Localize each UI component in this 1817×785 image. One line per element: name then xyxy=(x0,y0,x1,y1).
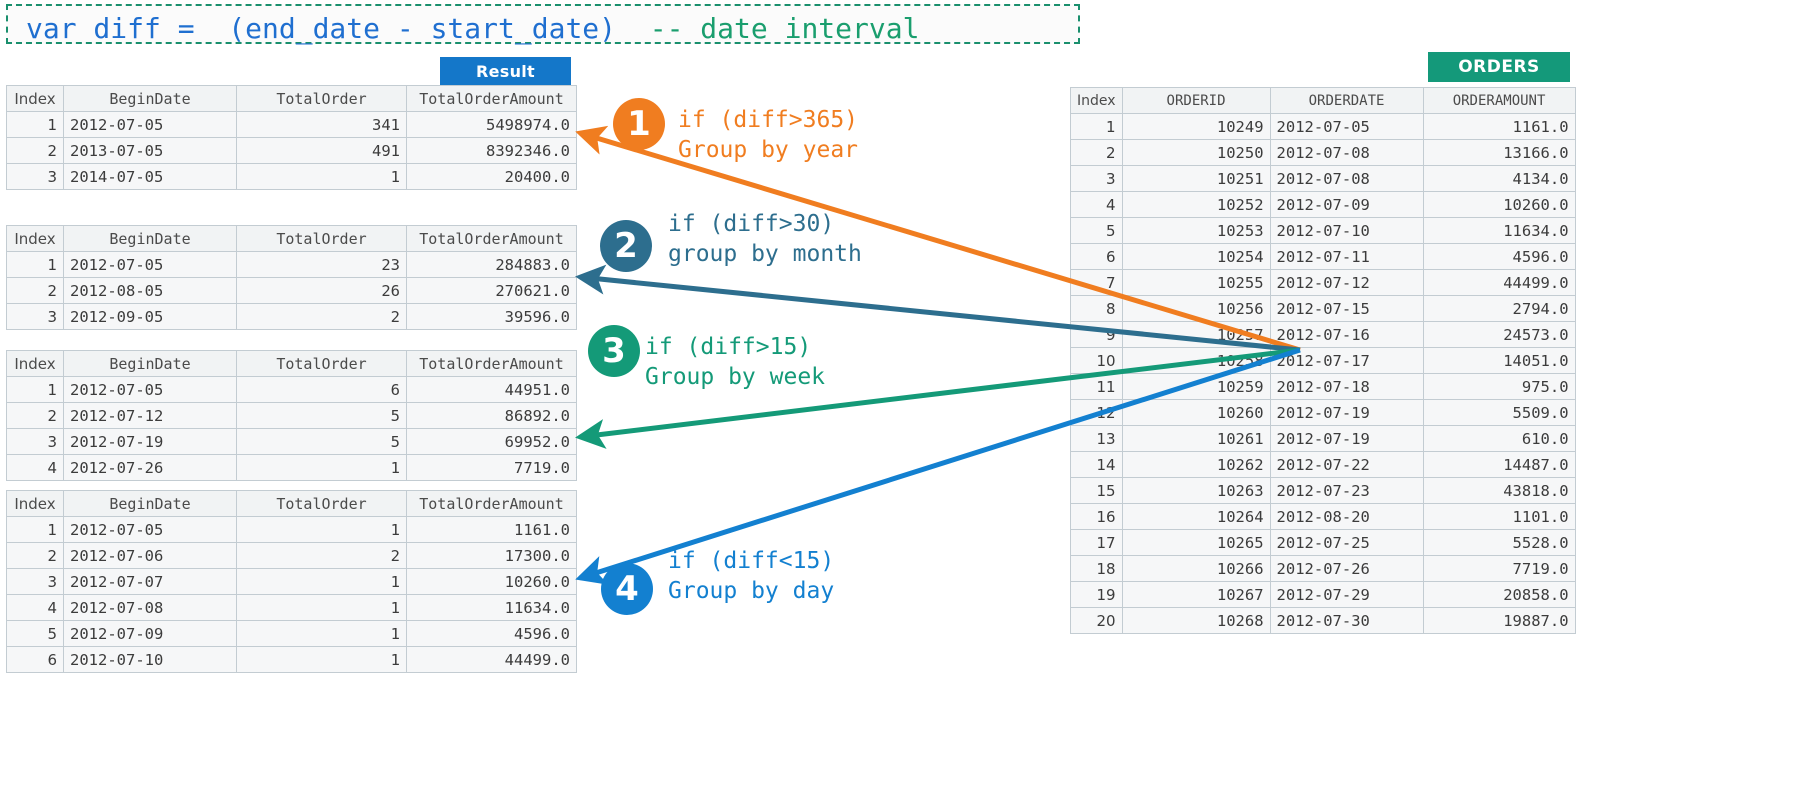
cell-totalorder: 491 xyxy=(237,138,407,164)
orders-table: IndexORDERIDORDERDATEORDERAMOUNT11024920… xyxy=(1070,87,1576,634)
cell-orderid: 10250 xyxy=(1122,140,1270,166)
table-row[interactable]: 3102512012-07-084134.0 xyxy=(1071,166,1576,192)
orders-tab[interactable]: ORDERS xyxy=(1428,52,1570,82)
cell-index: 16 xyxy=(1071,504,1123,530)
diagram-canvas: var diff = (end_date - start_date) -- da… xyxy=(0,0,1817,785)
cell-totalorderamount: 20400.0 xyxy=(407,164,577,190)
cell-index: 3 xyxy=(7,164,64,190)
column-header-index: Index xyxy=(7,226,64,252)
column-header-totalorder: TotalOrder xyxy=(237,86,407,112)
cell-totalorderamount: 284883.0 xyxy=(407,252,577,278)
cell-orderdate: 2012-07-12 xyxy=(1270,270,1423,296)
table-row[interactable]: 10102582012-07-1714051.0 xyxy=(1071,348,1576,374)
callout-2-line2: group by month xyxy=(668,241,862,267)
table-header-row: IndexBeginDateTotalOrderTotalOrderAmount xyxy=(7,86,577,112)
cell-index: 5 xyxy=(1071,218,1123,244)
cell-index: 17 xyxy=(1071,530,1123,556)
column-header-begindate: BeginDate xyxy=(64,351,237,377)
column-header-index: Index xyxy=(7,351,64,377)
cell-totalorder: 1 xyxy=(237,517,407,543)
cell-begindate: 2014-07-05 xyxy=(64,164,237,190)
cell-orderid: 10252 xyxy=(1122,192,1270,218)
cell-index: 10 xyxy=(1071,348,1123,374)
cell-orderid: 10266 xyxy=(1122,556,1270,582)
cell-orderdate: 2012-07-19 xyxy=(1270,426,1423,452)
cell-orderamount: 24573.0 xyxy=(1423,322,1575,348)
cell-orderamount: 4134.0 xyxy=(1423,166,1575,192)
table-header-row: IndexBeginDateTotalOrderTotalOrderAmount xyxy=(7,491,577,517)
column-header-totalorder: TotalOrder xyxy=(237,226,407,252)
table-row[interactable]: 2102502012-07-0813166.0 xyxy=(1071,140,1576,166)
table-row[interactable]: 6102542012-07-114596.0 xyxy=(1071,244,1576,270)
cell-orderid: 10264 xyxy=(1122,504,1270,530)
cell-orderid: 10249 xyxy=(1122,114,1270,140)
table-row[interactable]: 7102552012-07-1244499.0 xyxy=(1071,270,1576,296)
cell-orderdate: 2012-07-23 xyxy=(1270,478,1423,504)
table-row[interactable]: 32012-09-05239596.0 xyxy=(7,304,577,330)
table-body: 12012-07-05644951.022012-07-12586892.032… xyxy=(7,377,577,481)
cell-index: 4 xyxy=(7,455,64,481)
callout-1-badge: 1 xyxy=(613,98,665,150)
cell-orderdate: 2012-07-10 xyxy=(1270,218,1423,244)
cell-totalorder: 1 xyxy=(237,455,407,481)
callout-4-line1: if (diff<15) xyxy=(668,548,834,574)
callout-1-line2: Group by year xyxy=(678,137,858,163)
cell-begindate: 2012-07-05 xyxy=(64,252,237,278)
callout-4-badge: 4 xyxy=(601,563,653,615)
cell-orderdate: 2012-08-20 xyxy=(1270,504,1423,530)
cell-index: 15 xyxy=(1071,478,1123,504)
cell-orderdate: 2012-07-22 xyxy=(1270,452,1423,478)
table-row[interactable]: 32014-07-05120400.0 xyxy=(7,164,577,190)
table-row[interactable]: 1102492012-07-051161.0 xyxy=(1071,114,1576,140)
table-header-row: IndexBeginDateTotalOrderTotalOrderAmount xyxy=(7,351,577,377)
table-row[interactable]: 22013-07-054918392346.0 xyxy=(7,138,577,164)
callout-4-line2: Group by day xyxy=(668,578,834,604)
cell-orderamount: 7719.0 xyxy=(1423,556,1575,582)
cell-index: 14 xyxy=(1071,452,1123,478)
cell-orderamount: 19887.0 xyxy=(1423,608,1575,634)
cell-orderdate: 2012-07-08 xyxy=(1270,166,1423,192)
callout-2-line1: if (diff>30) xyxy=(668,211,834,237)
column-header-orderamount: ORDERAMOUNT xyxy=(1423,88,1575,114)
result-table-group-by-week: IndexBeginDateTotalOrderTotalOrderAmount… xyxy=(6,350,577,481)
table-row[interactable]: 9102572012-07-1624573.0 xyxy=(1071,322,1576,348)
cell-orderid: 10268 xyxy=(1122,608,1270,634)
cell-totalorderamount: 4596.0 xyxy=(407,621,577,647)
cell-orderdate: 2012-07-15 xyxy=(1270,296,1423,322)
table-row[interactable]: 62012-07-10144499.0 xyxy=(7,647,577,673)
table-row[interactable]: 14102622012-07-2214487.0 xyxy=(1071,452,1576,478)
cell-index: 19 xyxy=(1071,582,1123,608)
cell-totalorder: 5 xyxy=(237,429,407,455)
result-table-group-by-month: IndexBeginDateTotalOrderTotalOrderAmount… xyxy=(6,225,577,330)
cell-index: 7 xyxy=(1071,270,1123,296)
cell-orderid: 10257 xyxy=(1122,322,1270,348)
cell-totalorderamount: 10260.0 xyxy=(407,569,577,595)
cell-begindate: 2012-07-05 xyxy=(64,517,237,543)
cell-index: 3 xyxy=(7,569,64,595)
cell-totalorder: 1 xyxy=(237,647,407,673)
table-row[interactable]: 22012-07-12586892.0 xyxy=(7,403,577,429)
callout-3-badge: 3 xyxy=(588,325,640,377)
cell-totalorder: 1 xyxy=(237,569,407,595)
callout-1-line1: if (diff>365) xyxy=(678,107,858,133)
cell-index: 18 xyxy=(1071,556,1123,582)
cell-index: 1 xyxy=(1071,114,1123,140)
cell-orderamount: 20858.0 xyxy=(1423,582,1575,608)
cell-orderamount: 1101.0 xyxy=(1423,504,1575,530)
cell-index: 3 xyxy=(7,304,64,330)
cell-orderid: 10262 xyxy=(1122,452,1270,478)
cell-index: 3 xyxy=(7,429,64,455)
cell-totalorder: 26 xyxy=(237,278,407,304)
cell-index: 6 xyxy=(7,647,64,673)
cell-orderid: 10261 xyxy=(1122,426,1270,452)
cell-orderamount: 975.0 xyxy=(1423,374,1575,400)
table-row[interactable]: 52012-07-0914596.0 xyxy=(7,621,577,647)
callout-3-text: if (diff>15)Group by week xyxy=(645,332,825,392)
cell-orderid: 10258 xyxy=(1122,348,1270,374)
table-row[interactable]: 13102612012-07-19610.0 xyxy=(1071,426,1576,452)
cell-index: 2 xyxy=(1071,140,1123,166)
table-row[interactable]: 17102652012-07-255528.0 xyxy=(1071,530,1576,556)
cell-totalorderamount: 8392346.0 xyxy=(407,138,577,164)
cell-orderid: 10251 xyxy=(1122,166,1270,192)
table-header-row: IndexORDERIDORDERDATEORDERAMOUNT xyxy=(1071,88,1576,114)
cell-totalorder: 1 xyxy=(237,621,407,647)
cell-orderamount: 2794.0 xyxy=(1423,296,1575,322)
result-table-group-by-day: IndexBeginDateTotalOrderTotalOrderAmount… xyxy=(6,490,577,673)
cell-index: 12 xyxy=(1071,400,1123,426)
table-row[interactable]: 15102632012-07-2343818.0 xyxy=(1071,478,1576,504)
cell-begindate: 2012-07-05 xyxy=(64,377,237,403)
cell-orderdate: 2012-07-17 xyxy=(1270,348,1423,374)
cell-orderdate: 2012-07-05 xyxy=(1270,114,1423,140)
cell-orderid: 10259 xyxy=(1122,374,1270,400)
column-header-orderid: ORDERID xyxy=(1122,88,1270,114)
cell-orderdate: 2012-07-19 xyxy=(1270,400,1423,426)
column-header-index: Index xyxy=(7,86,64,112)
table-row[interactable]: 12012-07-0523284883.0 xyxy=(7,252,577,278)
table-row[interactable]: 42012-07-2617719.0 xyxy=(7,455,577,481)
cell-index: 1 xyxy=(7,252,64,278)
cell-orderamount: 14051.0 xyxy=(1423,348,1575,374)
cell-begindate: 2012-07-05 xyxy=(64,112,237,138)
table-body: 12012-07-0511161.022012-07-06217300.0320… xyxy=(7,517,577,673)
cell-index: 8 xyxy=(1071,296,1123,322)
code-banner: var diff = (end_date - start_date) -- da… xyxy=(6,4,1080,44)
cell-orderdate: 2012-07-09 xyxy=(1270,192,1423,218)
table-body: 12012-07-053415498974.022013-07-05491839… xyxy=(7,112,577,190)
cell-begindate: 2012-08-05 xyxy=(64,278,237,304)
cell-begindate: 2012-07-07 xyxy=(64,569,237,595)
cell-orderamount: 5528.0 xyxy=(1423,530,1575,556)
cell-begindate: 2012-07-12 xyxy=(64,403,237,429)
cell-orderdate: 2012-07-18 xyxy=(1270,374,1423,400)
cell-totalorder: 2 xyxy=(237,304,407,330)
cell-index: 2 xyxy=(7,278,64,304)
table-body: 1102492012-07-051161.02102502012-07-0813… xyxy=(1071,114,1576,634)
code-line: var diff = (end_date - start_date) -- da… xyxy=(26,12,919,45)
result-table-group-by-year: IndexBeginDateTotalOrderTotalOrderAmount… xyxy=(6,85,577,190)
table-row[interactable]: 32012-07-07110260.0 xyxy=(7,569,577,595)
table-row[interactable]: 19102672012-07-2920858.0 xyxy=(1071,582,1576,608)
cell-totalorderamount: 1161.0 xyxy=(407,517,577,543)
cell-orderamount: 1161.0 xyxy=(1423,114,1575,140)
cell-orderdate: 2012-07-25 xyxy=(1270,530,1423,556)
code-expression: var diff = (end_date - start_date) xyxy=(26,12,650,45)
cell-orderid: 10263 xyxy=(1122,478,1270,504)
cell-orderid: 10255 xyxy=(1122,270,1270,296)
cell-index: 13 xyxy=(1071,426,1123,452)
callout-2-text: if (diff>30)group by month xyxy=(668,209,862,269)
cell-totalorder: 2 xyxy=(237,543,407,569)
cell-orderdate: 2012-07-26 xyxy=(1270,556,1423,582)
cell-orderid: 10253 xyxy=(1122,218,1270,244)
code-comment: -- date interval xyxy=(650,12,920,45)
callout-2-badge: 2 xyxy=(600,220,652,272)
cell-index: 2 xyxy=(7,403,64,429)
cell-begindate: 2012-07-10 xyxy=(64,647,237,673)
table-body: 12012-07-0523284883.022012-08-0526270621… xyxy=(7,252,577,330)
cell-totalorder: 6 xyxy=(237,377,407,403)
cell-begindate: 2012-07-19 xyxy=(64,429,237,455)
cell-totalorder: 1 xyxy=(237,164,407,190)
cell-begindate: 2013-07-05 xyxy=(64,138,237,164)
cell-orderamount: 13166.0 xyxy=(1423,140,1575,166)
table-row[interactable]: 16102642012-08-201101.0 xyxy=(1071,504,1576,530)
cell-orderamount: 14487.0 xyxy=(1423,452,1575,478)
column-header-begindate: BeginDate xyxy=(64,86,237,112)
cell-begindate: 2012-07-06 xyxy=(64,543,237,569)
cell-orderdate: 2012-07-30 xyxy=(1270,608,1423,634)
cell-orderid: 10260 xyxy=(1122,400,1270,426)
cell-begindate: 2012-07-26 xyxy=(64,455,237,481)
column-header-index: Index xyxy=(1071,88,1123,114)
cell-begindate: 2012-07-08 xyxy=(64,595,237,621)
callout-4-text: if (diff<15)Group by day xyxy=(668,546,834,606)
column-header-totalorderamount: TotalOrderAmount xyxy=(407,491,577,517)
cell-orderdate: 2012-07-08 xyxy=(1270,140,1423,166)
table-row[interactable]: 8102562012-07-152794.0 xyxy=(1071,296,1576,322)
cell-totalorderamount: 69952.0 xyxy=(407,429,577,455)
table-row[interactable]: 12012-07-053415498974.0 xyxy=(7,112,577,138)
cell-orderamount: 11634.0 xyxy=(1423,218,1575,244)
cell-orderamount: 5509.0 xyxy=(1423,400,1575,426)
cell-index: 4 xyxy=(7,595,64,621)
column-header-begindate: BeginDate xyxy=(64,226,237,252)
cell-totalorderamount: 17300.0 xyxy=(407,543,577,569)
cell-totalorderamount: 44951.0 xyxy=(407,377,577,403)
cell-totalorder: 1 xyxy=(237,595,407,621)
cell-orderid: 10265 xyxy=(1122,530,1270,556)
cell-index: 1 xyxy=(7,377,64,403)
cell-index: 5 xyxy=(7,621,64,647)
cell-orderamount: 610.0 xyxy=(1423,426,1575,452)
cell-totalorderamount: 11634.0 xyxy=(407,595,577,621)
column-header-totalorderamount: TotalOrderAmount xyxy=(407,86,577,112)
cell-begindate: 2012-07-09 xyxy=(64,621,237,647)
cell-index: 3 xyxy=(1071,166,1123,192)
column-header-totalorderamount: TotalOrderAmount xyxy=(407,226,577,252)
table-row[interactable]: 22012-07-06217300.0 xyxy=(7,543,577,569)
table-row[interactable]: 12012-07-05644951.0 xyxy=(7,377,577,403)
table-row[interactable]: 5102532012-07-1011634.0 xyxy=(1071,218,1576,244)
cell-totalorder: 23 xyxy=(237,252,407,278)
cell-totalorderamount: 86892.0 xyxy=(407,403,577,429)
table-header-row: IndexBeginDateTotalOrderTotalOrderAmount xyxy=(7,226,577,252)
cell-totalorderamount: 44499.0 xyxy=(407,647,577,673)
cell-orderdate: 2012-07-16 xyxy=(1270,322,1423,348)
cell-totalorderamount: 5498974.0 xyxy=(407,112,577,138)
cell-totalorderamount: 270621.0 xyxy=(407,278,577,304)
cell-begindate: 2012-09-05 xyxy=(64,304,237,330)
result-tab[interactable]: Result xyxy=(440,57,571,85)
table-row[interactable]: 4102522012-07-0910260.0 xyxy=(1071,192,1576,218)
cell-index: 6 xyxy=(1071,244,1123,270)
cell-index: 2 xyxy=(7,138,64,164)
callout-3-line1: if (diff>15) xyxy=(645,334,811,360)
cell-orderamount: 10260.0 xyxy=(1423,192,1575,218)
table-row[interactable]: 22012-08-0526270621.0 xyxy=(7,278,577,304)
cell-orderamount: 4596.0 xyxy=(1423,244,1575,270)
table-row[interactable]: 12102602012-07-195509.0 xyxy=(1071,400,1576,426)
cell-orderid: 10267 xyxy=(1122,582,1270,608)
cell-totalorderamount: 7719.0 xyxy=(407,455,577,481)
table-row[interactable]: 11102592012-07-18975.0 xyxy=(1071,374,1576,400)
cell-orderid: 10256 xyxy=(1122,296,1270,322)
cell-orderid: 10254 xyxy=(1122,244,1270,270)
cell-orderdate: 2012-07-29 xyxy=(1270,582,1423,608)
table-row[interactable]: 18102662012-07-267719.0 xyxy=(1071,556,1576,582)
column-header-totalorder: TotalOrder xyxy=(237,491,407,517)
cell-index: 1 xyxy=(7,112,64,138)
cell-orderamount: 43818.0 xyxy=(1423,478,1575,504)
cell-index: 4 xyxy=(1071,192,1123,218)
cell-orderamount: 44499.0 xyxy=(1423,270,1575,296)
column-header-index: Index xyxy=(7,491,64,517)
cell-index: 11 xyxy=(1071,374,1123,400)
cell-index: 1 xyxy=(7,517,64,543)
column-header-begindate: BeginDate xyxy=(64,491,237,517)
cell-index: 20 xyxy=(1071,608,1123,634)
table-row[interactable]: 42012-07-08111634.0 xyxy=(7,595,577,621)
table-row[interactable]: 32012-07-19569952.0 xyxy=(7,429,577,455)
cell-index: 2 xyxy=(7,543,64,569)
column-header-orderdate: ORDERDATE xyxy=(1270,88,1423,114)
cell-index: 9 xyxy=(1071,322,1123,348)
cell-totalorder: 5 xyxy=(237,403,407,429)
column-header-totalorderamount: TotalOrderAmount xyxy=(407,351,577,377)
callout-3-line2: Group by week xyxy=(645,364,825,390)
table-row[interactable]: 20102682012-07-3019887.0 xyxy=(1071,608,1576,634)
callout-1-text: if (diff>365)Group by year xyxy=(678,105,858,165)
cell-orderdate: 2012-07-11 xyxy=(1270,244,1423,270)
column-header-totalorder: TotalOrder xyxy=(237,351,407,377)
cell-totalorder: 341 xyxy=(237,112,407,138)
table-row[interactable]: 12012-07-0511161.0 xyxy=(7,517,577,543)
cell-totalorderamount: 39596.0 xyxy=(407,304,577,330)
